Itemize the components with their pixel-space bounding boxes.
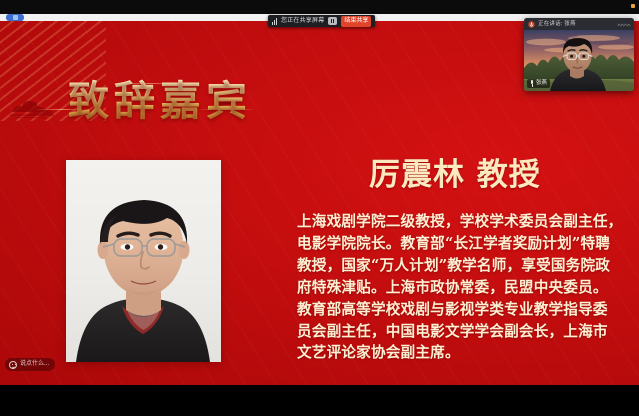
signal-bars-icon	[272, 18, 277, 25]
desktop-top-bar	[0, 0, 639, 14]
comment-placeholder: 说点什么...	[20, 358, 49, 371]
screen-share-view: 您正在共享屏幕 结束共享	[0, 0, 639, 416]
guest-name: 厉震林 教授	[369, 155, 541, 195]
bottom-letterbox	[0, 385, 639, 416]
video-feed[interactable]: 张燕	[524, 30, 634, 91]
audio-waveform-icon	[617, 21, 631, 28]
auspicious-cloud-motif-left	[8, 96, 66, 120]
slide-title: 致辞嘉宾	[68, 77, 252, 125]
guest-portrait-frame	[66, 160, 221, 362]
pause-share-icon[interactable]	[328, 17, 337, 25]
guest-biography: 上海戏剧学院二级教授，学校学术委员会副主任， 电影学院院长。教育部“长江学者奖励…	[297, 211, 627, 364]
microphone-icon	[530, 80, 534, 87]
active-speaker-label: 正在讲话: 张燕	[538, 18, 576, 30]
menu-indicator-dot	[631, 4, 635, 8]
guest-portrait-photo	[66, 160, 221, 362]
speaking-icon	[528, 21, 535, 28]
self-view-video-panel[interactable]: 正在讲话: 张燕	[524, 18, 634, 91]
share-status-text: 您正在共享屏幕	[281, 15, 324, 27]
participant-nametag: 张燕	[527, 79, 550, 88]
end-share-button[interactable]: 结束共享	[341, 16, 371, 27]
screen-share-toolbar[interactable]: 您正在共享屏幕 结束共享	[268, 15, 375, 27]
video-panel-header: 正在讲话: 张燕	[524, 18, 634, 30]
comment-input-pill[interactable]: 说点什么...	[5, 358, 55, 371]
smiley-icon[interactable]	[9, 361, 17, 369]
app-window-icon[interactable]	[6, 14, 24, 21]
participant-name: 张燕	[536, 79, 547, 88]
